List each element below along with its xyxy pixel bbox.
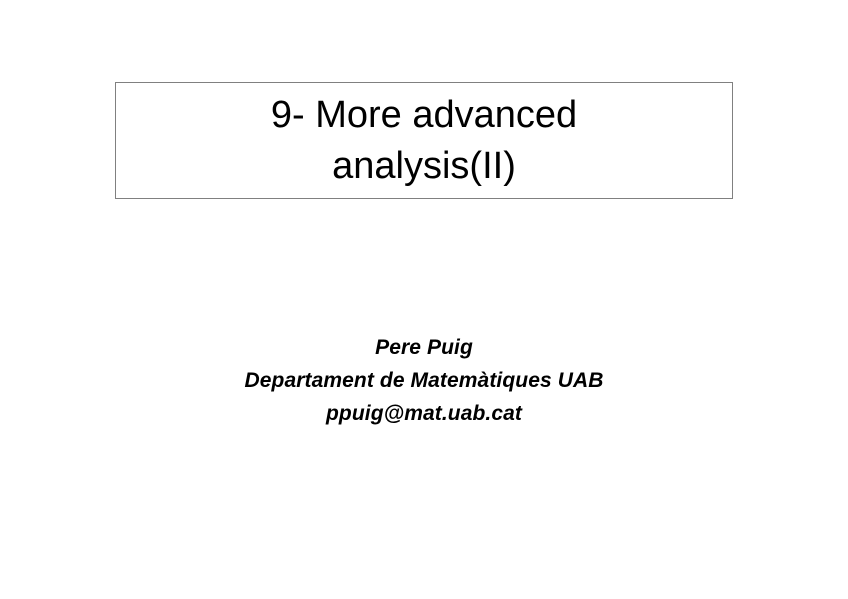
slide-page: 9- More advanced analysis(II) Pere Puig … <box>0 0 848 599</box>
author-email: ppuig@mat.uab.cat <box>0 397 848 430</box>
title-line-1: 9- More advanced <box>271 90 577 140</box>
author-block: Pere Puig Departament de Matemàtiques UA… <box>0 331 848 431</box>
author-affiliation: Departament de Matemàtiques UAB <box>0 364 848 397</box>
title-box: 9- More advanced analysis(II) <box>115 82 733 199</box>
author-name: Pere Puig <box>0 331 848 364</box>
title-line-2: analysis(II) <box>332 141 516 191</box>
